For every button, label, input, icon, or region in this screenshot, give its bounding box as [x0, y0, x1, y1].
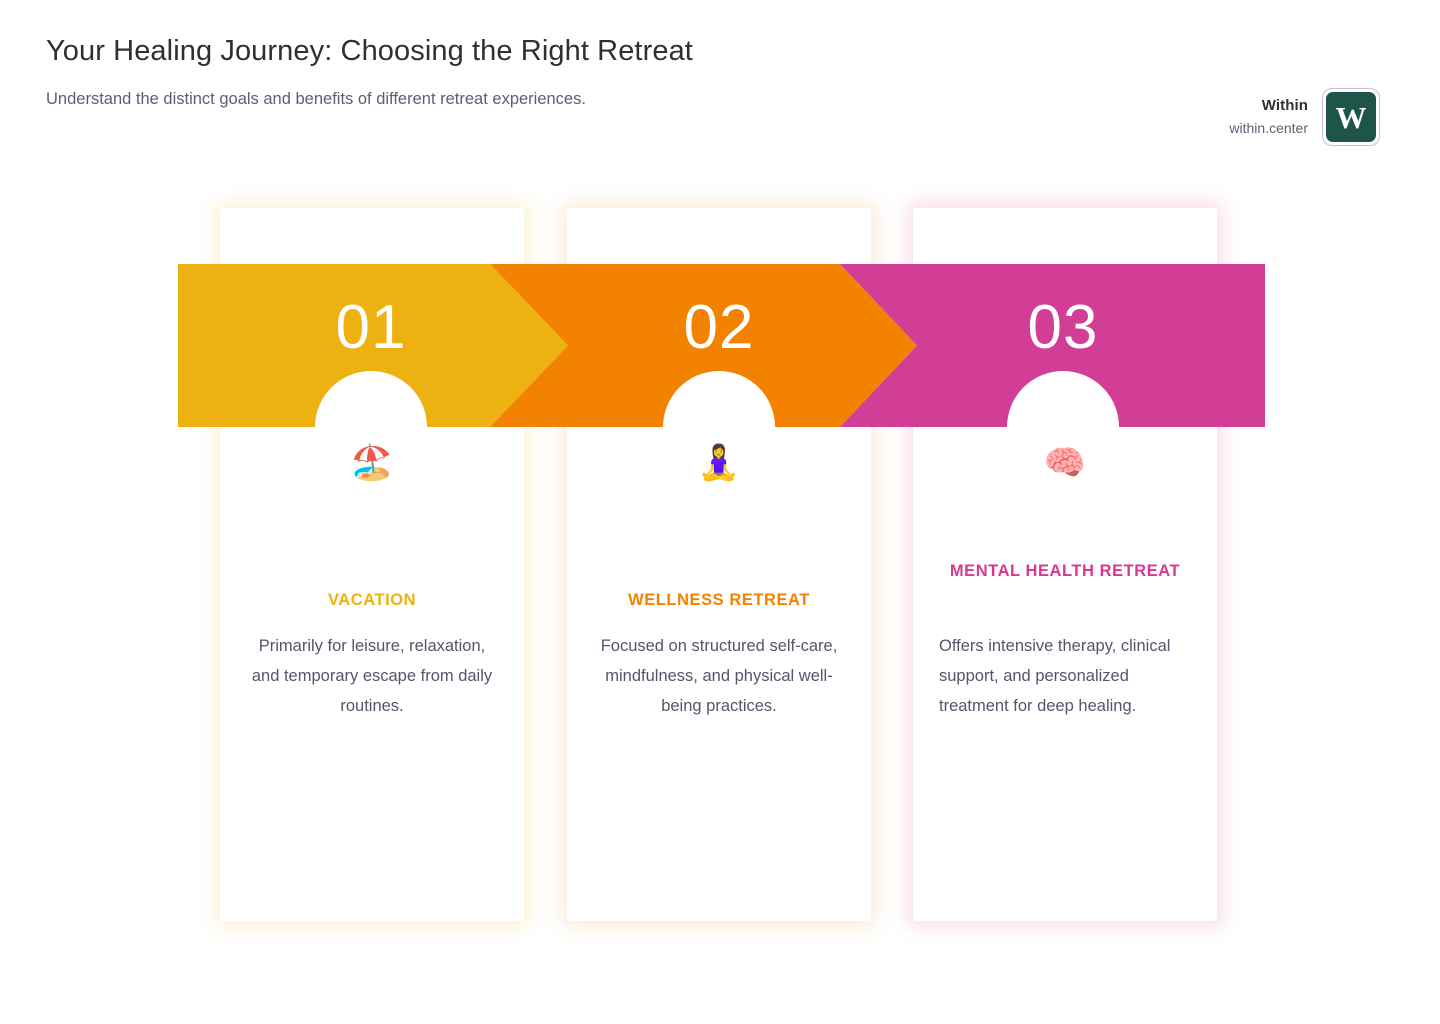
- step-card-title: VACATION: [220, 585, 524, 615]
- brand-logo-letter-w-icon: W: [1326, 92, 1376, 142]
- brain-emoji: 🧠: [913, 446, 1217, 480]
- brand-name: Within: [1229, 96, 1308, 116]
- brand-url: within.center: [1229, 119, 1308, 138]
- brand-logo: W: [1322, 88, 1380, 146]
- step-card-description: Focused on structured self-care, mindful…: [567, 631, 871, 721]
- brand-block: Within within.center W: [1229, 88, 1380, 146]
- beach-with-umbrella-emoji: 🏖️: [220, 446, 524, 480]
- step-card-title: WELLNESS RETREAT: [567, 585, 871, 615]
- page-title: Your Healing Journey: Choosing the Right…: [46, 26, 736, 76]
- brand-text: Within within.center: [1229, 96, 1308, 137]
- step-card-description: Offers intensive therapy, clinical suppo…: [913, 631, 1217, 721]
- page-subtitle: Understand the distinct goals and benefi…: [46, 84, 686, 115]
- woman-in-lotus-position-emoji: 🧘‍♀️: [567, 446, 871, 480]
- step-number-01: 01: [271, 278, 471, 378]
- step-number-03: 03: [963, 278, 1163, 378]
- header: Your Healing Journey: Choosing the Right…: [0, 0, 1440, 115]
- chevron-step-band: 01 02 03: [178, 264, 1265, 427]
- step-number-02: 02: [619, 278, 819, 378]
- step-card-title: MENTAL HEALTH RETREAT: [913, 556, 1217, 586]
- step-card-description: Primarily for leisure, relaxation, and t…: [220, 631, 524, 721]
- chevron-step-numbers: 01 02 03: [178, 264, 1265, 427]
